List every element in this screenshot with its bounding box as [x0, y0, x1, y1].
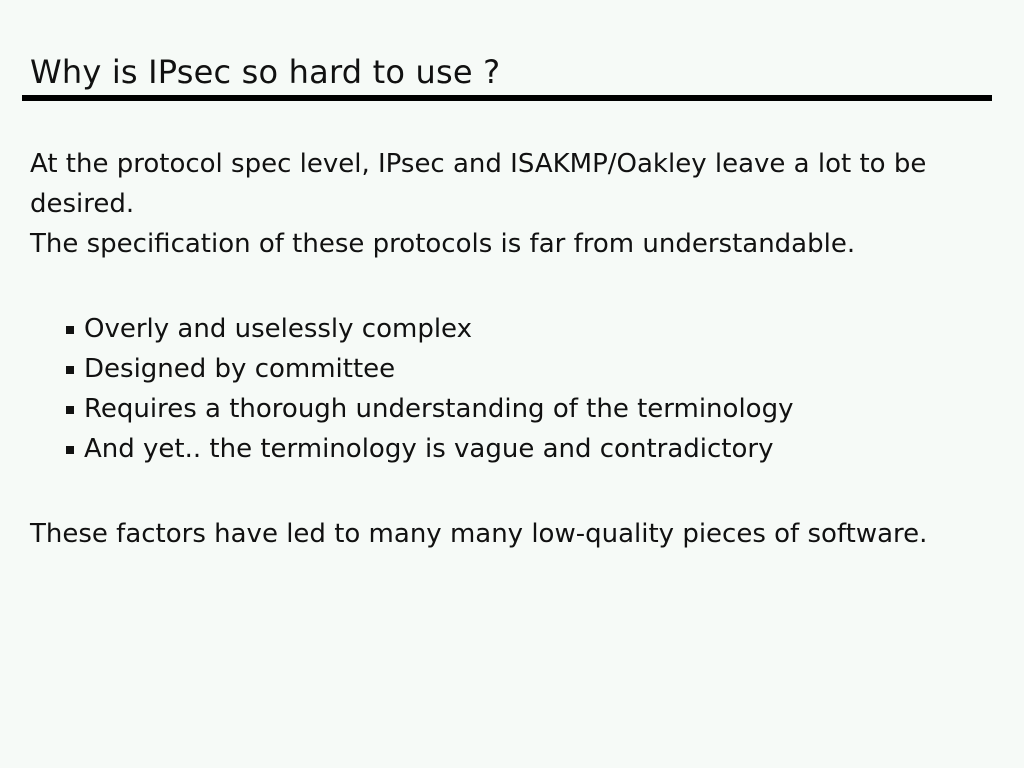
list-item: And yet.. the terminology is vague and c… — [30, 429, 990, 469]
slide-body: At the protocol spec level, IPsec and IS… — [30, 144, 990, 554]
slide: Why is IPsec so hard to use ? At the pro… — [0, 0, 1024, 768]
filled-square-bullet-icon — [66, 366, 74, 374]
list-item-label: Designed by committee — [84, 354, 395, 384]
intro-paragraph-2: The specification of these protocols is … — [30, 224, 965, 264]
intro-paragraph-1: At the protocol spec level, IPsec and IS… — [30, 144, 965, 224]
list-item-label: Requires a thorough understanding of the… — [84, 394, 793, 424]
title-underline-rule — [22, 95, 992, 101]
closing-paragraph: These factors have led to many many low-… — [30, 514, 965, 554]
filled-square-bullet-icon — [66, 326, 74, 334]
bullet-list: Overly and uselessly complex Designed by… — [30, 309, 990, 469]
list-item: Overly and uselessly complex — [30, 309, 990, 349]
filled-square-bullet-icon — [66, 406, 74, 414]
filled-square-bullet-icon — [66, 446, 74, 454]
list-item: Requires a thorough understanding of the… — [30, 389, 990, 429]
list-item: Designed by committee — [30, 349, 990, 389]
list-item-label: And yet.. the terminology is vague and c… — [84, 434, 773, 464]
slide-title: Why is IPsec so hard to use ? — [30, 52, 500, 92]
list-item-label: Overly and uselessly complex — [84, 314, 472, 344]
